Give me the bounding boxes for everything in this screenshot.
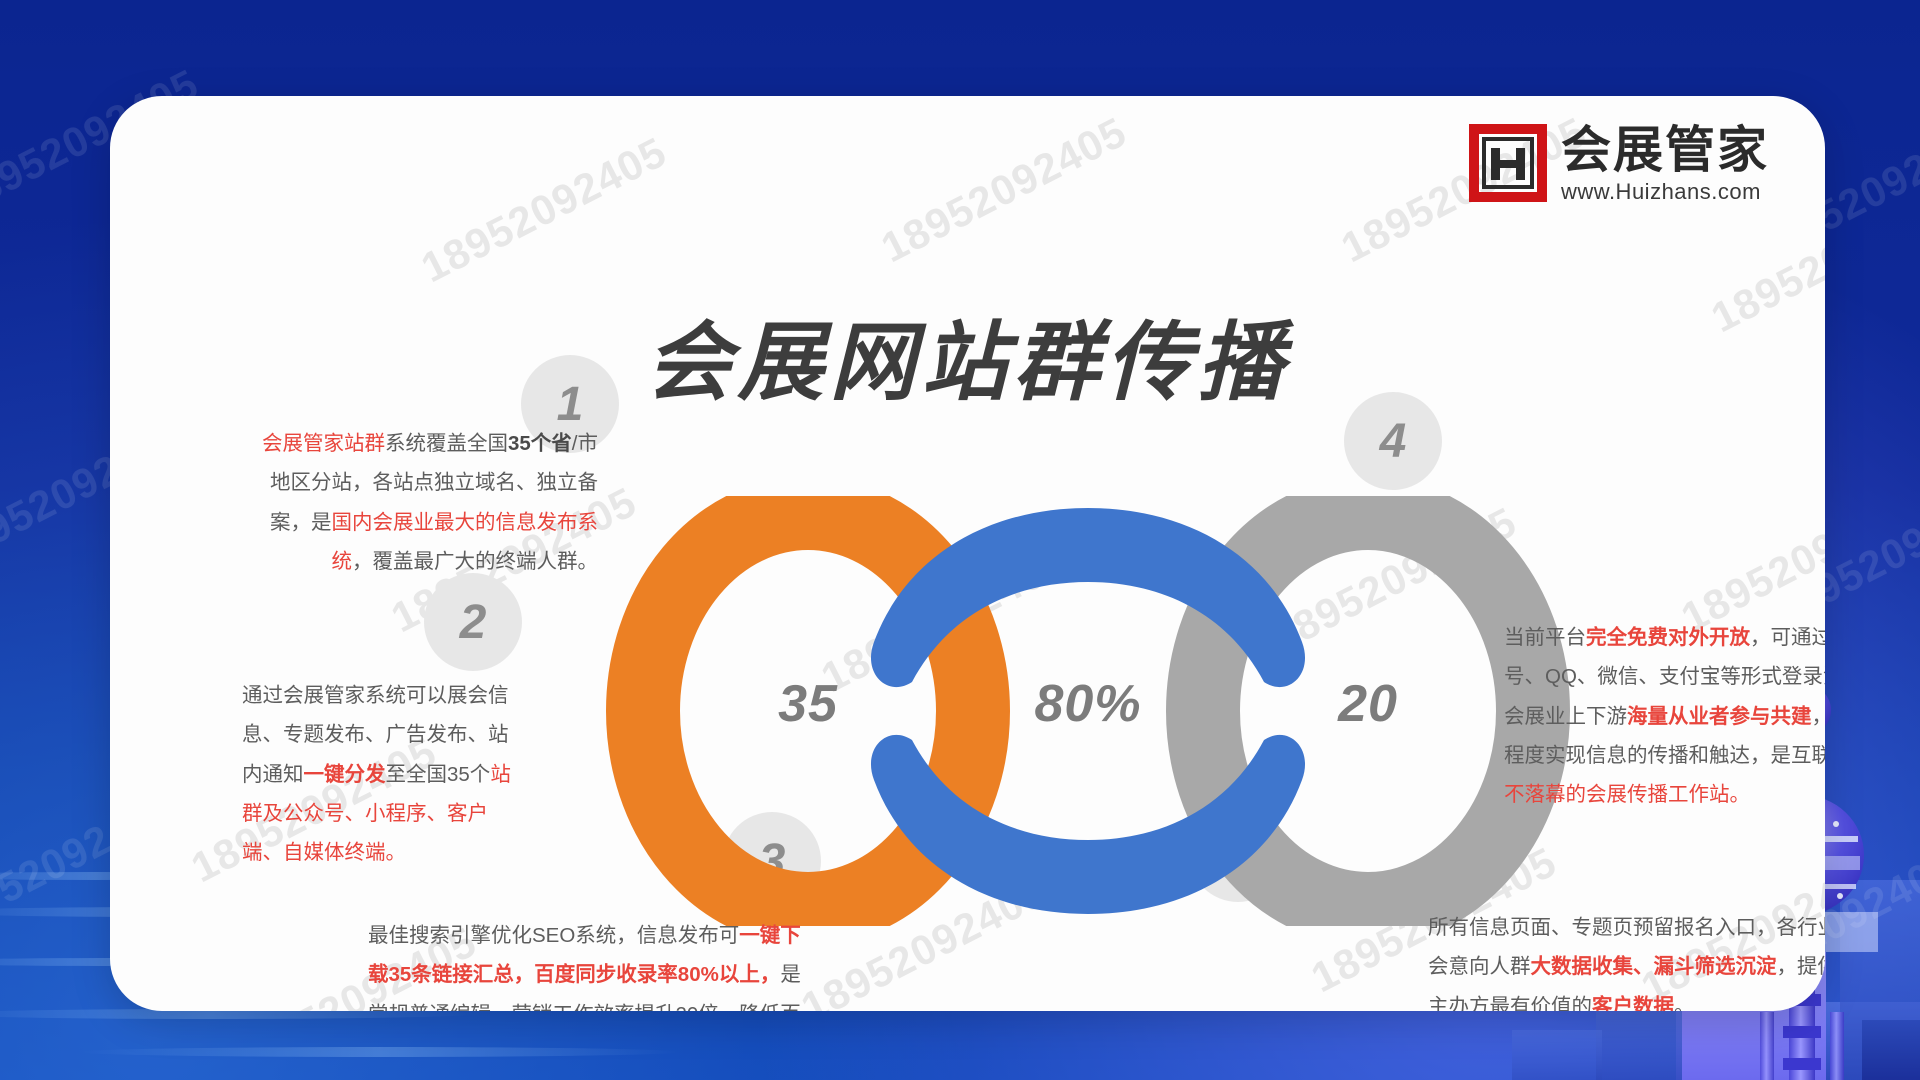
ring-value-gray: 20: [1288, 674, 1448, 734]
brand-logo[interactable]: 会展管家 www.Huizhans.com: [1469, 124, 1769, 205]
ring-value-blue: 80%: [1008, 674, 1168, 734]
bubble-step-2: 2: [424, 573, 522, 671]
watermark: 18952092405: [874, 108, 1135, 272]
bubble-step-4: 4: [1344, 392, 1442, 490]
page-title: 会展网站群传播: [110, 292, 1825, 417]
text-block-2: 通过会展管家系统可以展会信息、专题发布、广告发布、站内通知一键分发至全国35个站…: [242, 676, 527, 873]
text-block-1: 会展管家站群系统覆盖全国35个省/市地区分站，各站点独立域名、独立备案，是国内会…: [258, 424, 598, 581]
watermark: 18952092405: [414, 128, 675, 292]
text-block-3: 最佳搜索引擎优化SEO系统，信息发布可一键下载35条链接汇总，百度同步收录率80…: [368, 916, 808, 1011]
infographic-stage: 18952092405 18952092405 18952092405 1895…: [0, 0, 1920, 1080]
text-block-5: 所有信息页面、专题页预留报名入口，各行业展会意向人群大数据收集、漏斗筛选沉淀，提…: [1428, 908, 1825, 1011]
bubble-label: 2: [460, 595, 487, 650]
content-card: 18952092405 18952092405 18952092405 1895…: [110, 96, 1825, 1011]
bubble-label: 4: [1380, 414, 1407, 469]
ring-value-orange: 35: [728, 674, 888, 734]
huizhans-mark-icon: [1469, 124, 1547, 202]
text-block-4: 当前平台完全免费对外开放，可通过手机号、QQ、微信、支付宝等形式登录注册，会展业…: [1504, 618, 1825, 815]
logo-brand-name: 会展管家: [1561, 124, 1769, 177]
logo-website-url: www.Huizhans.com: [1561, 179, 1769, 205]
